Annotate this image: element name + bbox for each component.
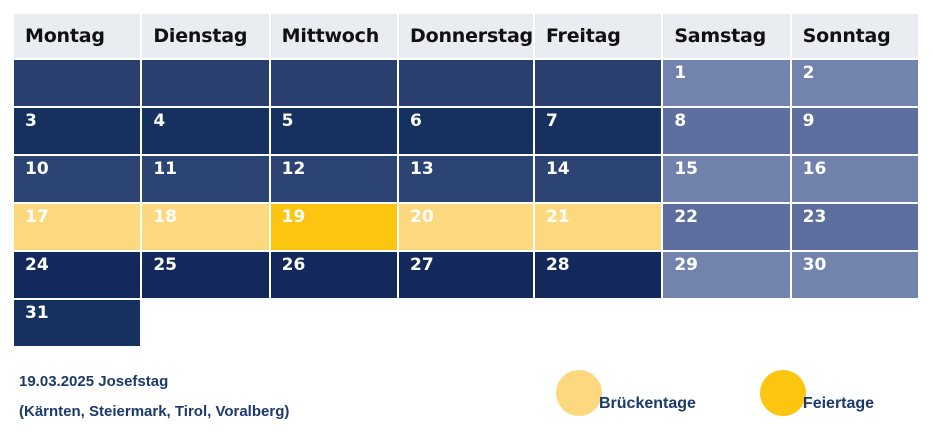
legend-label: Brückentage (599, 395, 696, 413)
day-number: 26 (282, 255, 306, 275)
weekday-header-label: Dienstag (153, 25, 247, 47)
calendar-empty-cell (142, 300, 268, 346)
day-number: 24 (25, 255, 49, 275)
day-number: 16 (803, 159, 827, 179)
calendar-day-cell[interactable]: 24 (14, 252, 140, 298)
day-number: 3 (25, 111, 37, 131)
calendar-day-cell[interactable]: 12 (271, 156, 397, 202)
calendar-day-cell[interactable]: 31 (14, 300, 140, 346)
day-number: 9 (803, 111, 815, 131)
day-number: 2 (803, 63, 815, 83)
calendar-day-cell[interactable]: 3 (14, 108, 140, 154)
day-number: 6 (410, 111, 422, 131)
day-number: 12 (282, 159, 306, 179)
weekday-header-label: Montag (25, 25, 105, 47)
calendar-day-cell[interactable]: 11 (142, 156, 268, 202)
day-number: 7 (546, 111, 558, 131)
calendar-day-cell[interactable]: 9 (792, 108, 918, 154)
calendar-day-cell[interactable] (142, 60, 268, 106)
calendar-empty-cell (792, 300, 918, 346)
day-number: 17 (25, 207, 49, 227)
day-number: 19 (282, 207, 306, 227)
day-number: 29 (674, 255, 698, 275)
calendar-day-cell[interactable]: 20 (399, 204, 533, 250)
calendar-day-cell[interactable]: 30 (792, 252, 918, 298)
legend-entry: Brückentage (556, 370, 696, 416)
day-number: 13 (410, 159, 434, 179)
calendar-day-cell[interactable]: 15 (663, 156, 789, 202)
calendar-day-cell[interactable] (14, 60, 140, 106)
weekday-header-cell: Donnerstag (399, 14, 533, 58)
weekday-header-cell: Freitag (535, 14, 661, 58)
day-number: 5 (282, 111, 294, 131)
calendar-day-cell[interactable]: 22 (663, 204, 789, 250)
calendar-day-cell[interactable]: 29 (663, 252, 789, 298)
day-number: 14 (546, 159, 570, 179)
calendar-day-cell[interactable]: 25 (142, 252, 268, 298)
weekday-header-cell: Samstag (663, 14, 789, 58)
weekday-header-label: Samstag (674, 25, 766, 47)
calendar-legend: BrückentageFeiertage (556, 370, 874, 416)
calendar-empty-cell (271, 300, 397, 346)
calendar-day-cell[interactable]: 14 (535, 156, 661, 202)
calendar-day-cell[interactable] (535, 60, 661, 106)
weekday-header-cell: Sonntag (792, 14, 918, 58)
calendar-day-cell[interactable]: 1 (663, 60, 789, 106)
calendar-empty-cell (535, 300, 661, 346)
calendar-day-cell[interactable]: 21 (535, 204, 661, 250)
holiday-swatch-icon (760, 370, 806, 416)
bridge-day-swatch-icon (556, 370, 602, 416)
calendar-day-cell[interactable]: 7 (535, 108, 661, 154)
day-number: 30 (803, 255, 827, 275)
calendar-day-cell[interactable]: 27 (399, 252, 533, 298)
calendar-day-cell[interactable]: 13 (399, 156, 533, 202)
day-number: 10 (25, 159, 49, 179)
calendar-day-cell[interactable]: 16 (792, 156, 918, 202)
day-number: 23 (803, 207, 827, 227)
weekday-header-cell: Montag (14, 14, 140, 58)
day-number: 22 (674, 207, 698, 227)
calendar-day-cell[interactable]: 4 (142, 108, 268, 154)
calendar-day-cell[interactable]: 23 (792, 204, 918, 250)
calendar-day-cell[interactable]: 8 (663, 108, 789, 154)
calendar-day-cell[interactable]: 28 (535, 252, 661, 298)
day-number: 27 (410, 255, 434, 275)
calendar-day-cell[interactable]: 18 (142, 204, 268, 250)
calendar-day-cell[interactable] (399, 60, 533, 106)
weekday-header-label: Sonntag (803, 25, 891, 47)
legend-label: Feiertage (803, 395, 874, 413)
calendar-day-cell[interactable]: 17 (14, 204, 140, 250)
legend-entry: Feiertage (760, 370, 874, 416)
calendar-day-cell[interactable]: 2 (792, 60, 918, 106)
calendar-day-cell[interactable]: 19 (271, 204, 397, 250)
day-number: 4 (153, 111, 165, 131)
day-number: 15 (674, 159, 698, 179)
holiday-note-line: 19.03.2025 Josefstag (19, 367, 539, 397)
calendar-empty-cell (399, 300, 533, 346)
holiday-note: 19.03.2025 Josefstag(Kärnten, Steiermark… (19, 367, 539, 427)
day-number: 25 (153, 255, 177, 275)
calendar-day-cell[interactable]: 6 (399, 108, 533, 154)
calendar-day-cell[interactable]: 26 (271, 252, 397, 298)
calendar-day-cell[interactable]: 5 (271, 108, 397, 154)
calendar-day-cell[interactable]: 10 (14, 156, 140, 202)
calendar-widget: MontagDienstagMittwochDonnerstagFreitagS… (0, 0, 933, 443)
day-number: 28 (546, 255, 570, 275)
day-number: 18 (153, 207, 177, 227)
weekday-header-cell: Dienstag (142, 14, 268, 58)
weekday-header-cell: Mittwoch (271, 14, 397, 58)
day-number: 11 (153, 159, 177, 179)
day-number: 1 (674, 63, 686, 83)
weekday-header-label: Donnerstag (410, 25, 533, 47)
weekday-header-label: Mittwoch (282, 25, 379, 47)
day-number: 8 (674, 111, 686, 131)
holiday-note-line: (Kärnten, Steiermark, Tirol, Voralberg) (19, 397, 539, 427)
weekday-header-label: Freitag (546, 25, 621, 47)
day-number: 21 (546, 207, 570, 227)
day-number: 20 (410, 207, 434, 227)
day-number: 31 (25, 303, 49, 323)
calendar-grid: MontagDienstagMittwochDonnerstagFreitagS… (14, 14, 918, 346)
calendar-day-cell[interactable] (271, 60, 397, 106)
calendar-empty-cell (663, 300, 789, 346)
